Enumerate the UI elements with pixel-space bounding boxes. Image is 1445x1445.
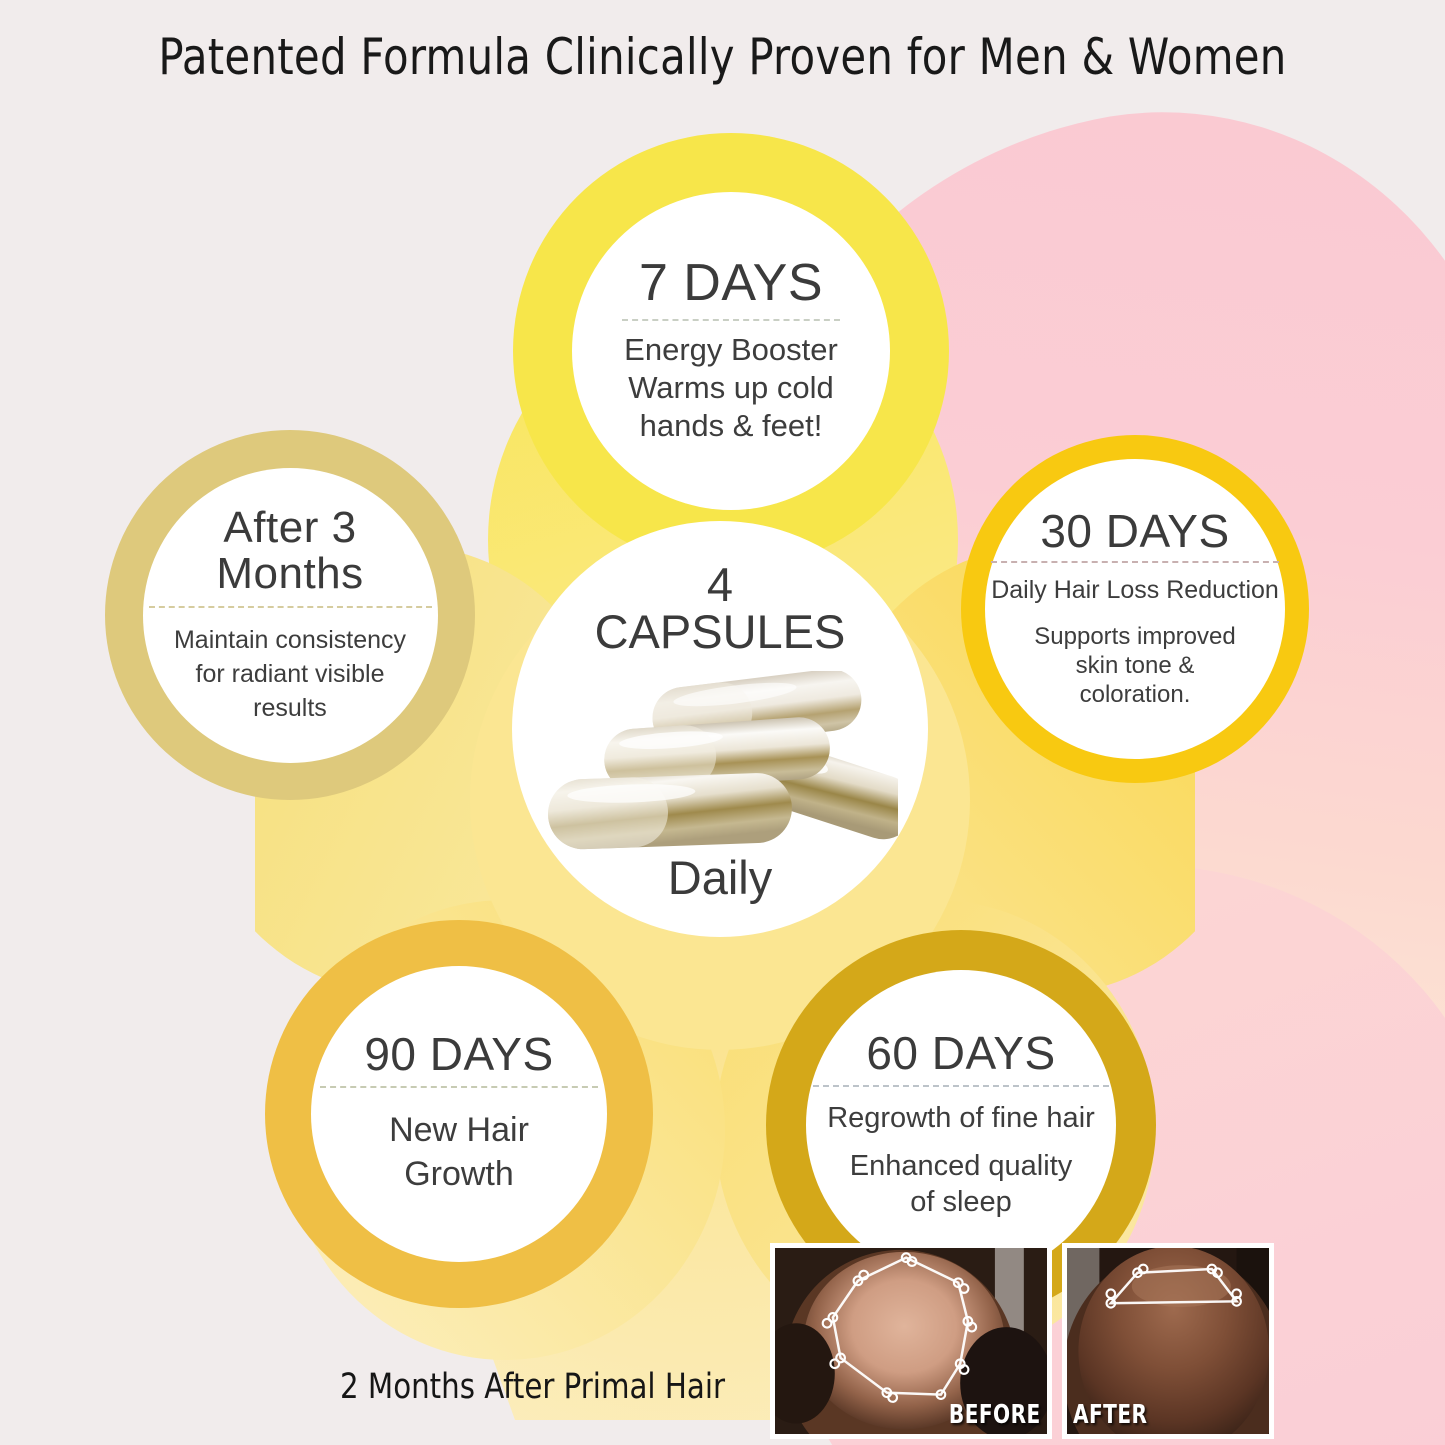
capsules-photo <box>542 671 898 851</box>
page-title: Patented Formula Clinically Proven for M… <box>51 28 1395 86</box>
milestone-header: After 3 Months <box>216 505 363 598</box>
center-title-line1: 4 <box>707 558 733 611</box>
milestone-body: Energy Booster Warms up cold hands & fee… <box>624 331 838 444</box>
after-label: AFTER <box>1073 1400 1147 1430</box>
milestone-body-primary: Daily Hair Loss Reduction <box>991 575 1279 606</box>
milestone-90-days[interactable]: 90 DAYS New Hair Growth <box>264 919 654 1309</box>
divider <box>149 606 432 608</box>
milestone-body-primary: Regrowth of fine hair <box>827 1101 1095 1136</box>
before-photo[interactable]: BEFORE <box>770 1243 1052 1439</box>
milestone-body: Maintain consistency for radiant visible… <box>174 624 406 725</box>
milestone-header: 7 DAYS <box>639 257 823 310</box>
infographic-canvas: Patented Formula Clinically Proven for M… <box>0 0 1445 1445</box>
divider <box>813 1085 1109 1087</box>
milestone-header: 90 DAYS <box>364 1031 553 1078</box>
divider <box>622 319 840 321</box>
milestone-header: 30 DAYS <box>1040 508 1229 555</box>
milestone-header: 60 DAYS <box>866 1030 1055 1077</box>
milestone-body: New Hair Growth <box>389 1108 529 1196</box>
milestone-30-days[interactable]: 30 DAYS Daily Hair Loss Reduction Suppor… <box>960 434 1310 784</box>
before-label: BEFORE <box>949 1400 1041 1430</box>
milestone-after-3-months[interactable]: After 3 Months Maintain consistency for … <box>104 429 476 801</box>
after-photo[interactable]: AFTER <box>1062 1243 1274 1439</box>
center-title-line2: CAPSULES <box>595 605 846 658</box>
center-dosage-circle[interactable]: 4 CAPSULES <box>512 521 928 937</box>
milestone-7-days[interactable]: 7 DAYS Energy Booster Warms up cold hand… <box>511 131 951 571</box>
center-title: 4 CAPSULES <box>595 561 846 655</box>
bottom-caption: 2 Months After Primal Hair <box>340 1367 749 1407</box>
milestone-body-secondary: Supports improved skin tone & coloration… <box>1034 622 1235 710</box>
divider <box>320 1086 598 1088</box>
milestone-body-secondary: Enhanced quality of sleep <box>850 1148 1073 1221</box>
divider <box>991 561 1279 563</box>
center-footer: Daily <box>512 850 928 905</box>
